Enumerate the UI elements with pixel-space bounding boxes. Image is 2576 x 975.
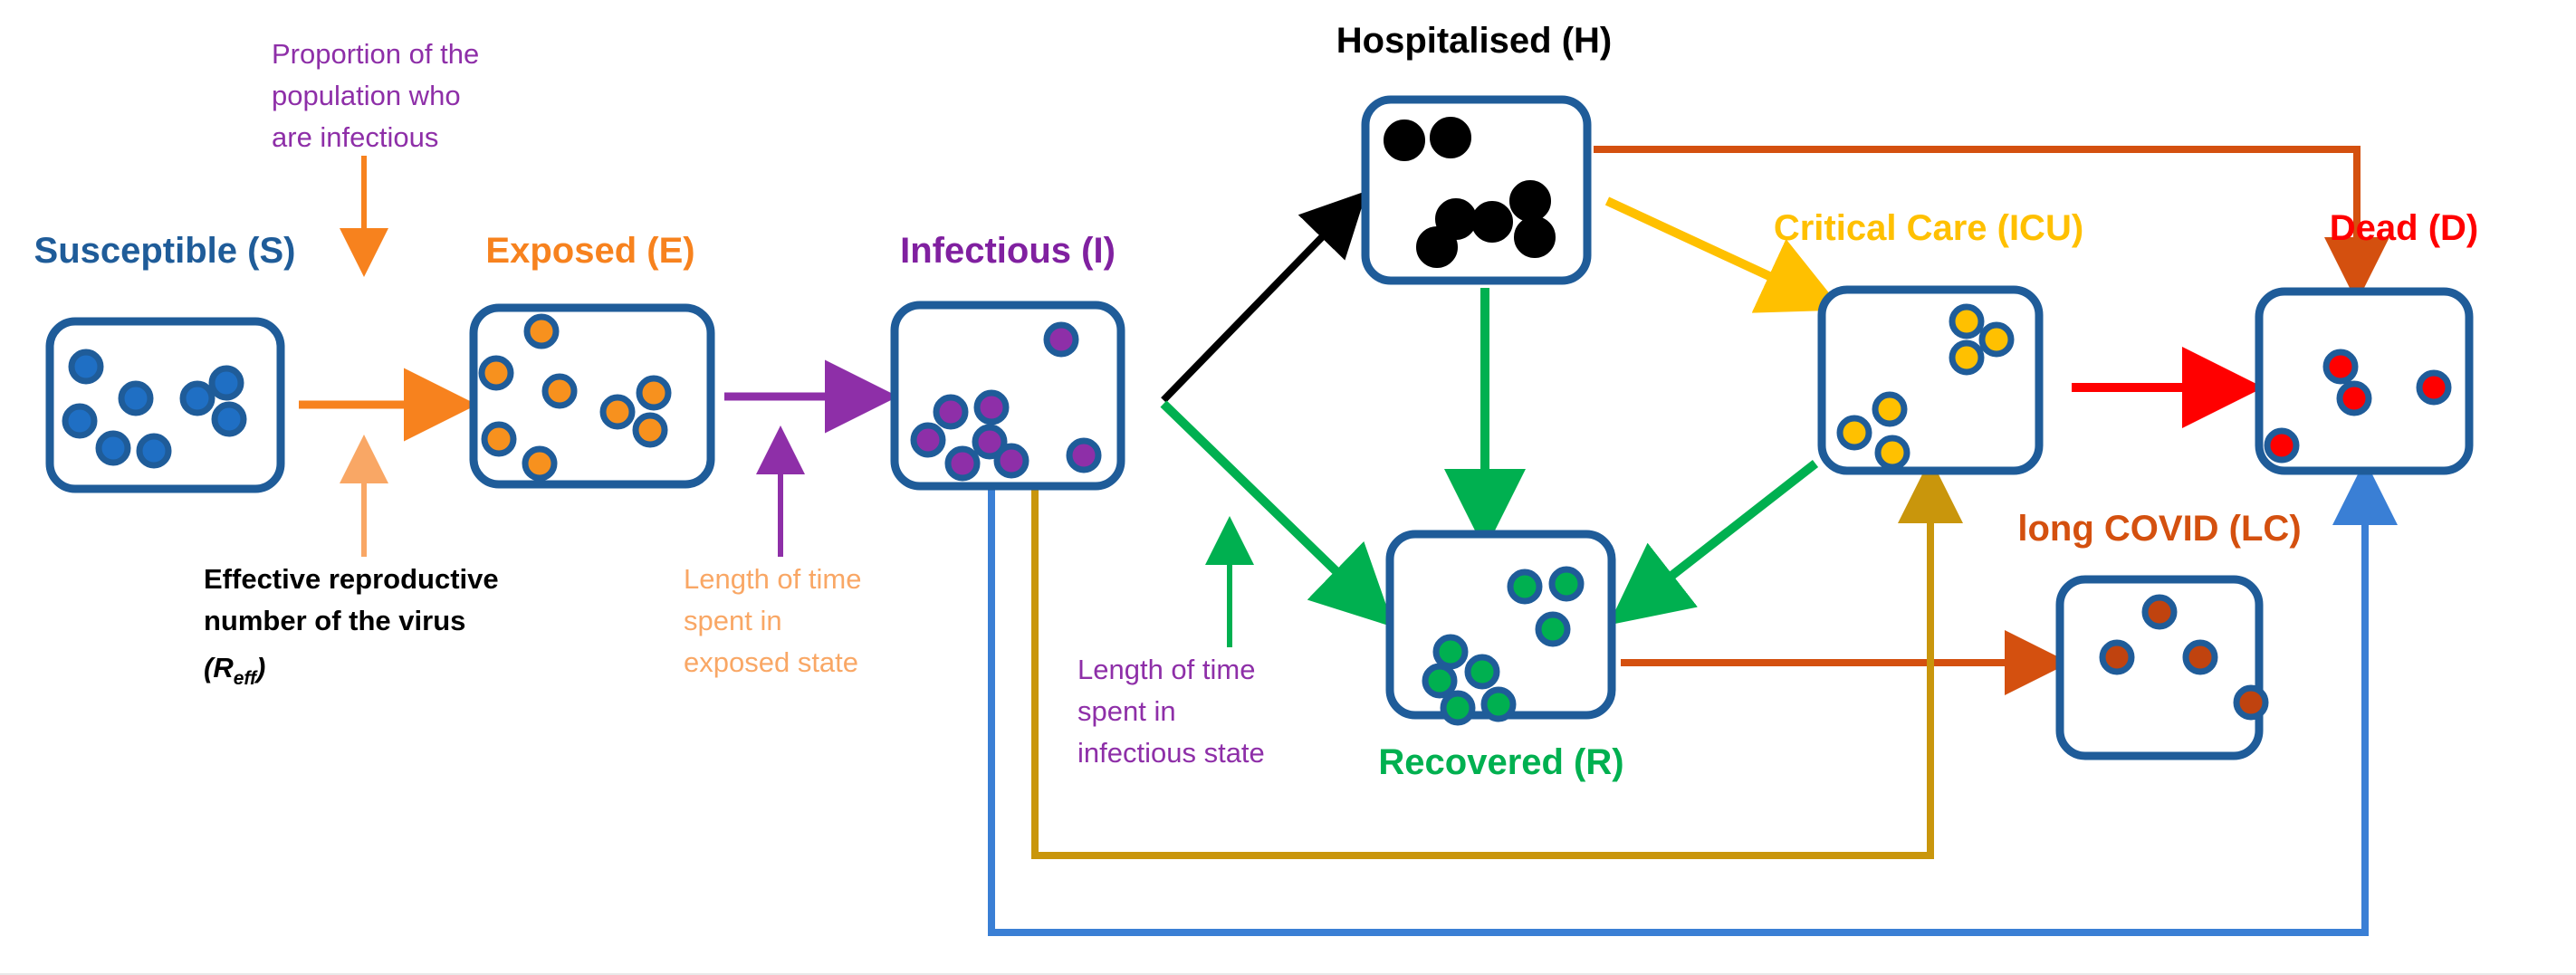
formula-open: (R xyxy=(204,652,234,683)
compartment-boxes xyxy=(50,100,2469,756)
compartment-icu[interactable] xyxy=(1822,290,2039,471)
compartment-hospitalised[interactable] xyxy=(1365,100,1587,281)
arrow-i-to-h xyxy=(1164,206,1352,400)
compartment-recovered[interactable] xyxy=(1390,534,1612,722)
annotation-line: number of the virus xyxy=(204,605,465,636)
compartment-infectious[interactable] xyxy=(895,305,1121,486)
compartment-long-covid[interactable] xyxy=(2060,579,2265,756)
annotation-line: infectious state xyxy=(1077,737,1265,769)
formula-subscript: eff xyxy=(234,668,258,689)
annotation-line: population who xyxy=(272,80,461,111)
annotation-effective-reproductive-number: Effective reproductive number of the vir… xyxy=(204,563,499,689)
annotation-proportion-infectious: Proportion of the population who are inf… xyxy=(272,38,479,153)
annotation-line: exposed state xyxy=(684,646,858,678)
compartment-dead[interactable] xyxy=(2259,292,2469,471)
label-long-covid: long COVID (LC) xyxy=(2017,509,2301,549)
diagram-canvas: Susceptible (S) Exposed (E) Infectious (… xyxy=(0,0,2576,975)
label-hospitalised: Hospitalised (H) xyxy=(1336,21,1612,61)
compartment-exposed[interactable] xyxy=(474,308,711,484)
annotation-line: spent in xyxy=(684,605,782,636)
label-susceptible: Susceptible (S) xyxy=(34,231,296,271)
label-dead: Dead (D) xyxy=(2330,208,2478,248)
label-recovered: Recovered (R) xyxy=(1378,742,1623,782)
annotation-length-of-time-exposed: Length of time spent in exposed state xyxy=(684,563,861,678)
annotation-line: Length of time xyxy=(1077,654,1255,685)
compartment-susceptible[interactable] xyxy=(50,321,281,489)
compartment-model-diagram: Susceptible (S) Exposed (E) Infectious (… xyxy=(0,0,2576,975)
annotation-line: Effective reproductive xyxy=(204,563,499,595)
annotation-formula: (Reff) xyxy=(204,652,265,689)
annotation-line: are infectious xyxy=(272,121,438,153)
label-icu: Critical Care (ICU) xyxy=(1774,208,2083,248)
label-infectious: Infectious (I) xyxy=(900,231,1116,271)
arrow-icu-to-r xyxy=(1630,464,1815,608)
annotation-line: Length of time xyxy=(684,563,861,595)
annotation-line: Proportion of the xyxy=(272,38,479,70)
compartment-box-exposed xyxy=(474,308,711,484)
label-exposed: Exposed (E) xyxy=(485,231,694,271)
arrow-i-to-r xyxy=(1164,404,1374,608)
annotation-line: spent in xyxy=(1077,695,1176,727)
annotation-length-of-time-infectious: Length of time spent in infectious state xyxy=(1077,654,1265,769)
